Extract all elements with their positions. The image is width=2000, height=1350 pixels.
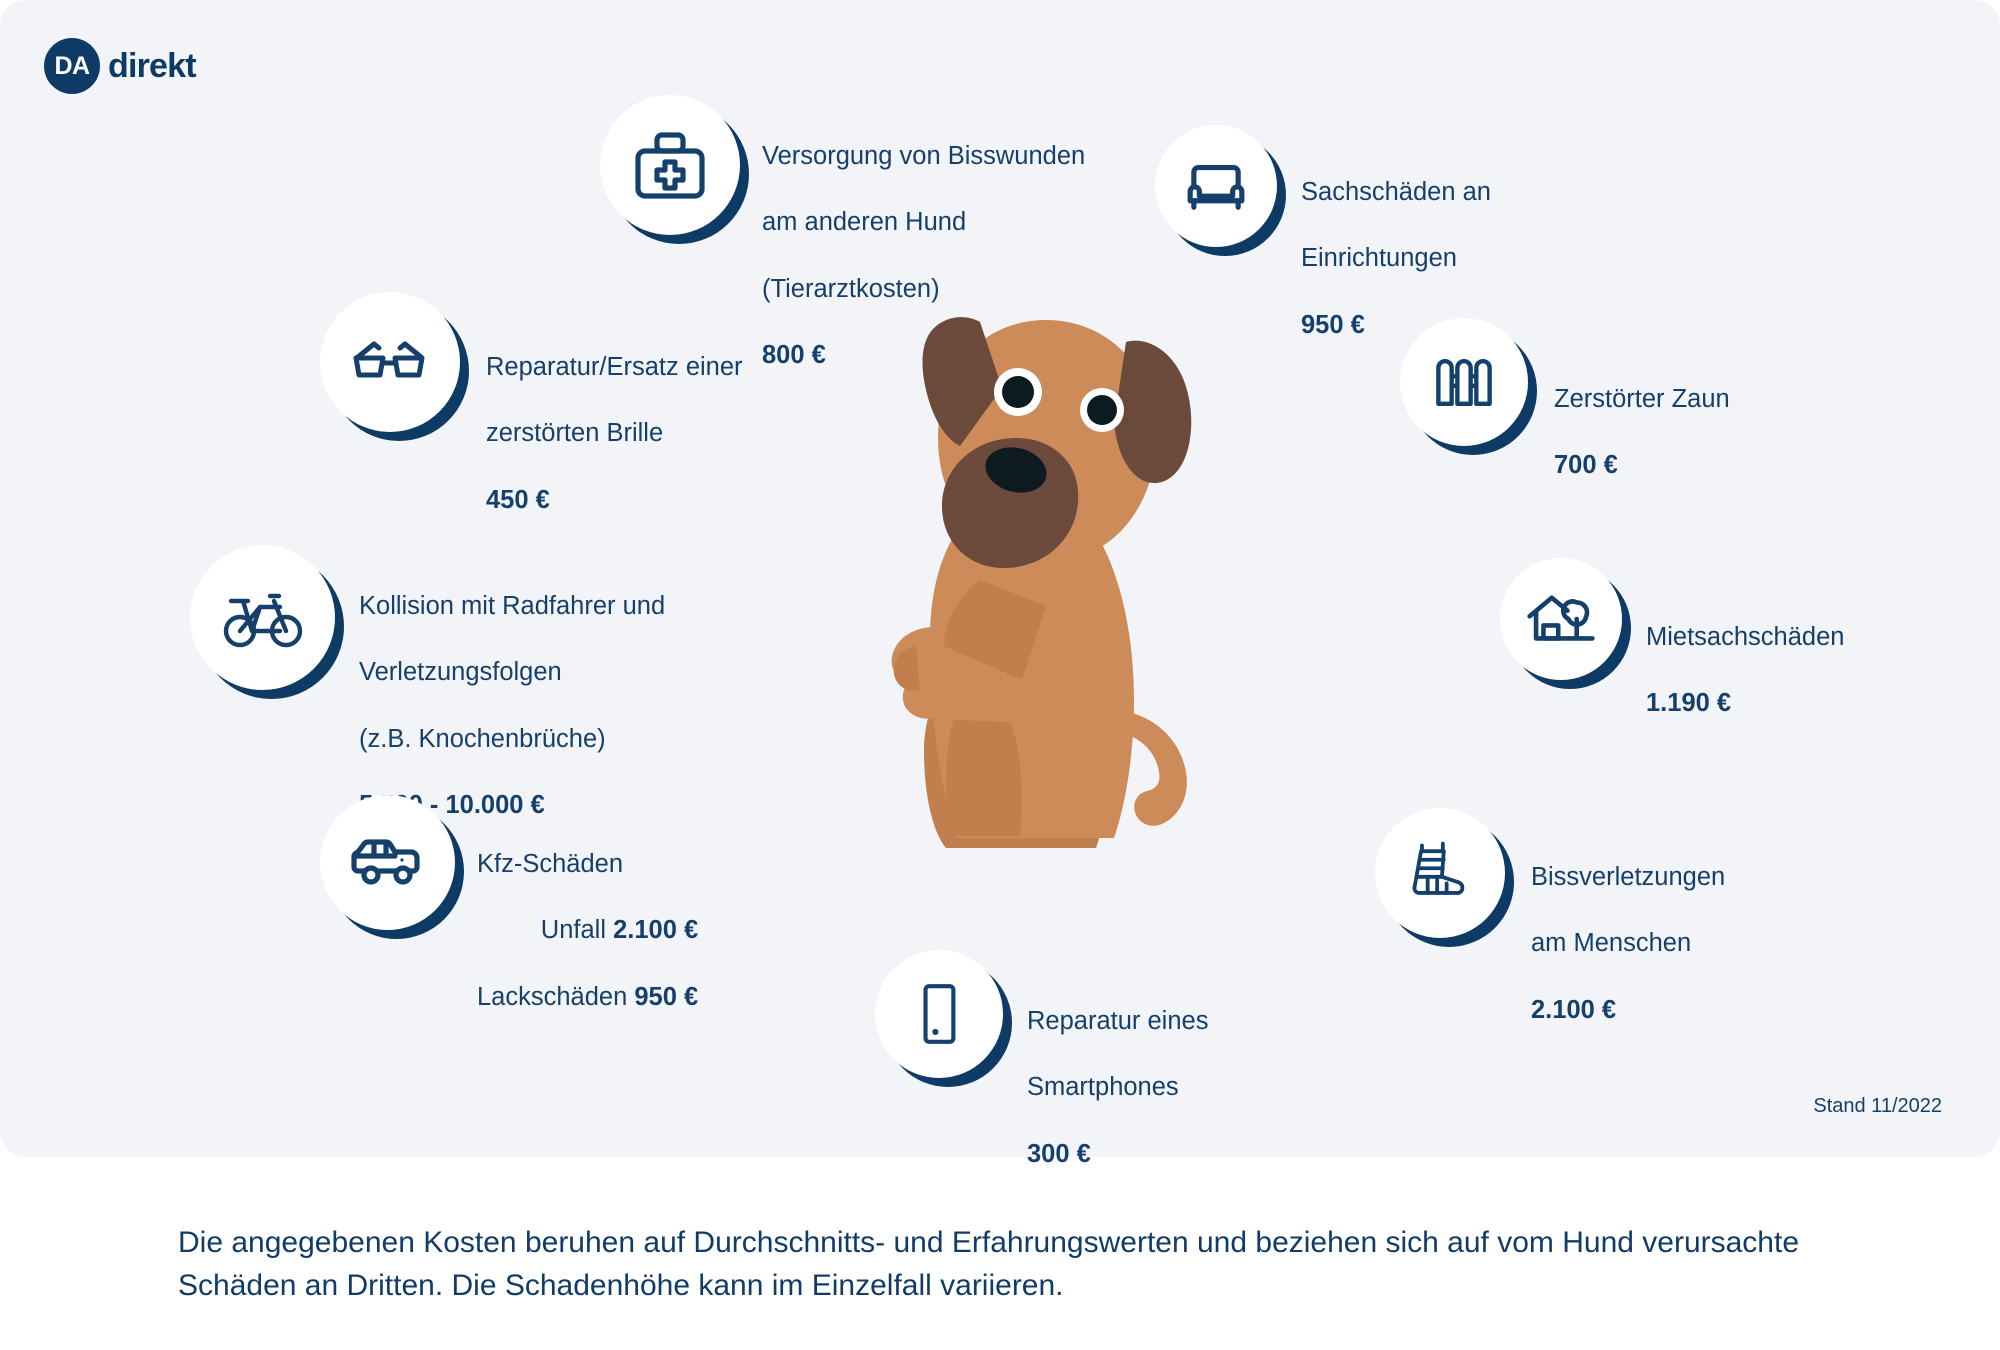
item-amount: 2.100 € bbox=[1531, 994, 1725, 1027]
item-line: Sachschäden an bbox=[1301, 176, 1491, 209]
item-line: zerstörten Brille bbox=[486, 417, 743, 450]
item-line: (z.B. Knochenbrüche) bbox=[359, 723, 665, 756]
item-line: am Menschen bbox=[1531, 927, 1725, 960]
item-car[interactable]: Kfz-Schäden Unfall 2.100 € Lackschäden 9… bbox=[320, 795, 698, 1047]
fence-icon bbox=[1400, 318, 1528, 446]
item-rental[interactable]: Mietsachschäden 1.190 € bbox=[1500, 558, 1844, 754]
item-fence[interactable]: Zerstörter Zaun 700 € bbox=[1400, 318, 1730, 516]
item-line: Einrichtungen bbox=[1301, 242, 1491, 275]
badge-fence bbox=[1400, 318, 1528, 446]
glasses-icon bbox=[320, 292, 460, 432]
item-smartphone[interactable]: Reparatur eines Smartphones 300 € bbox=[875, 950, 1208, 1204]
footer-disclaimer: Die angegebenen Kosten beruhen auf Durch… bbox=[178, 1222, 1878, 1307]
house-tree-icon bbox=[1500, 558, 1622, 680]
stand-date: Stand 11/2022 bbox=[1813, 1095, 1942, 1118]
dog-illustration bbox=[830, 280, 1250, 850]
item-line: Versorgung von Bisswunden bbox=[762, 140, 1085, 173]
first-aid-kit-icon bbox=[600, 95, 740, 235]
badge-bicycle bbox=[190, 545, 335, 690]
logo-mark-circle: DA bbox=[44, 38, 100, 94]
logo-wordmark: direkt bbox=[108, 47, 196, 86]
item-line: Kollision mit Radfahrer und bbox=[359, 590, 665, 623]
item-bite[interactable]: Bissverletzungen am Menschen 2.100 € bbox=[1375, 808, 1725, 1060]
item-line: Mietsachschäden bbox=[1646, 621, 1844, 654]
item-line: Smartphones bbox=[1027, 1071, 1208, 1104]
item-line: Reparatur eines bbox=[1027, 1005, 1208, 1038]
item-line: am anderen Hund bbox=[762, 206, 1085, 239]
infographic-page: DA direkt Versorgung von Bisswunden am a… bbox=[0, 0, 2000, 1350]
badge-smartphone bbox=[875, 950, 1003, 1078]
item-amount: 300 € bbox=[1027, 1138, 1208, 1171]
badge-bite bbox=[1375, 808, 1505, 938]
bicycle-icon bbox=[190, 545, 335, 690]
badge-furniture bbox=[1155, 125, 1277, 247]
item-glasses[interactable]: Reparatur/Ersatz einer zerstörten Brille… bbox=[320, 292, 743, 550]
item-car-row1: Unfall 2.100 € bbox=[477, 914, 698, 947]
item-line: Reparatur/Ersatz einer bbox=[486, 351, 743, 384]
row-label: Unfall bbox=[541, 916, 613, 944]
brand-logo[interactable]: DA direkt bbox=[44, 38, 196, 94]
item-bite-text: Bissverletzungen am Menschen 2.100 € bbox=[1531, 808, 1725, 1060]
item-amount: 700 € bbox=[1554, 449, 1730, 482]
item-smartphone-text: Reparatur eines Smartphones 300 € bbox=[1027, 950, 1208, 1204]
sofa-icon bbox=[1155, 125, 1277, 247]
item-rental-text: Mietsachschäden 1.190 € bbox=[1646, 558, 1844, 754]
item-fence-text: Zerstörter Zaun 700 € bbox=[1554, 318, 1730, 516]
item-line: Verletzungsfolgen bbox=[359, 656, 665, 689]
badge-glasses bbox=[320, 292, 460, 432]
row-amount: 950 € bbox=[634, 983, 698, 1011]
row-label: Lackschäden bbox=[477, 983, 634, 1011]
item-amount: 1.190 € bbox=[1646, 687, 1844, 720]
item-glasses-text: Reparatur/Ersatz einer zerstörten Brille… bbox=[486, 292, 743, 550]
row-amount: 2.100 € bbox=[613, 916, 698, 944]
smartphone-icon bbox=[875, 950, 1003, 1078]
badge-rental bbox=[1500, 558, 1622, 680]
bandaged-foot-icon bbox=[1375, 808, 1505, 938]
logo-mark-text: DA bbox=[54, 52, 89, 81]
item-amount: 450 € bbox=[486, 484, 743, 517]
badge-vet bbox=[600, 95, 740, 235]
item-car-row2: Lackschäden 950 € bbox=[477, 981, 698, 1014]
item-car-title: Kfz-Schäden bbox=[477, 848, 698, 881]
item-line: Zerstörter Zaun bbox=[1554, 383, 1730, 416]
item-line: Bissverletzungen bbox=[1531, 861, 1725, 894]
car-icon bbox=[320, 795, 455, 930]
badge-car bbox=[320, 795, 455, 930]
item-car-text: Kfz-Schäden Unfall 2.100 € Lackschäden 9… bbox=[477, 795, 698, 1047]
